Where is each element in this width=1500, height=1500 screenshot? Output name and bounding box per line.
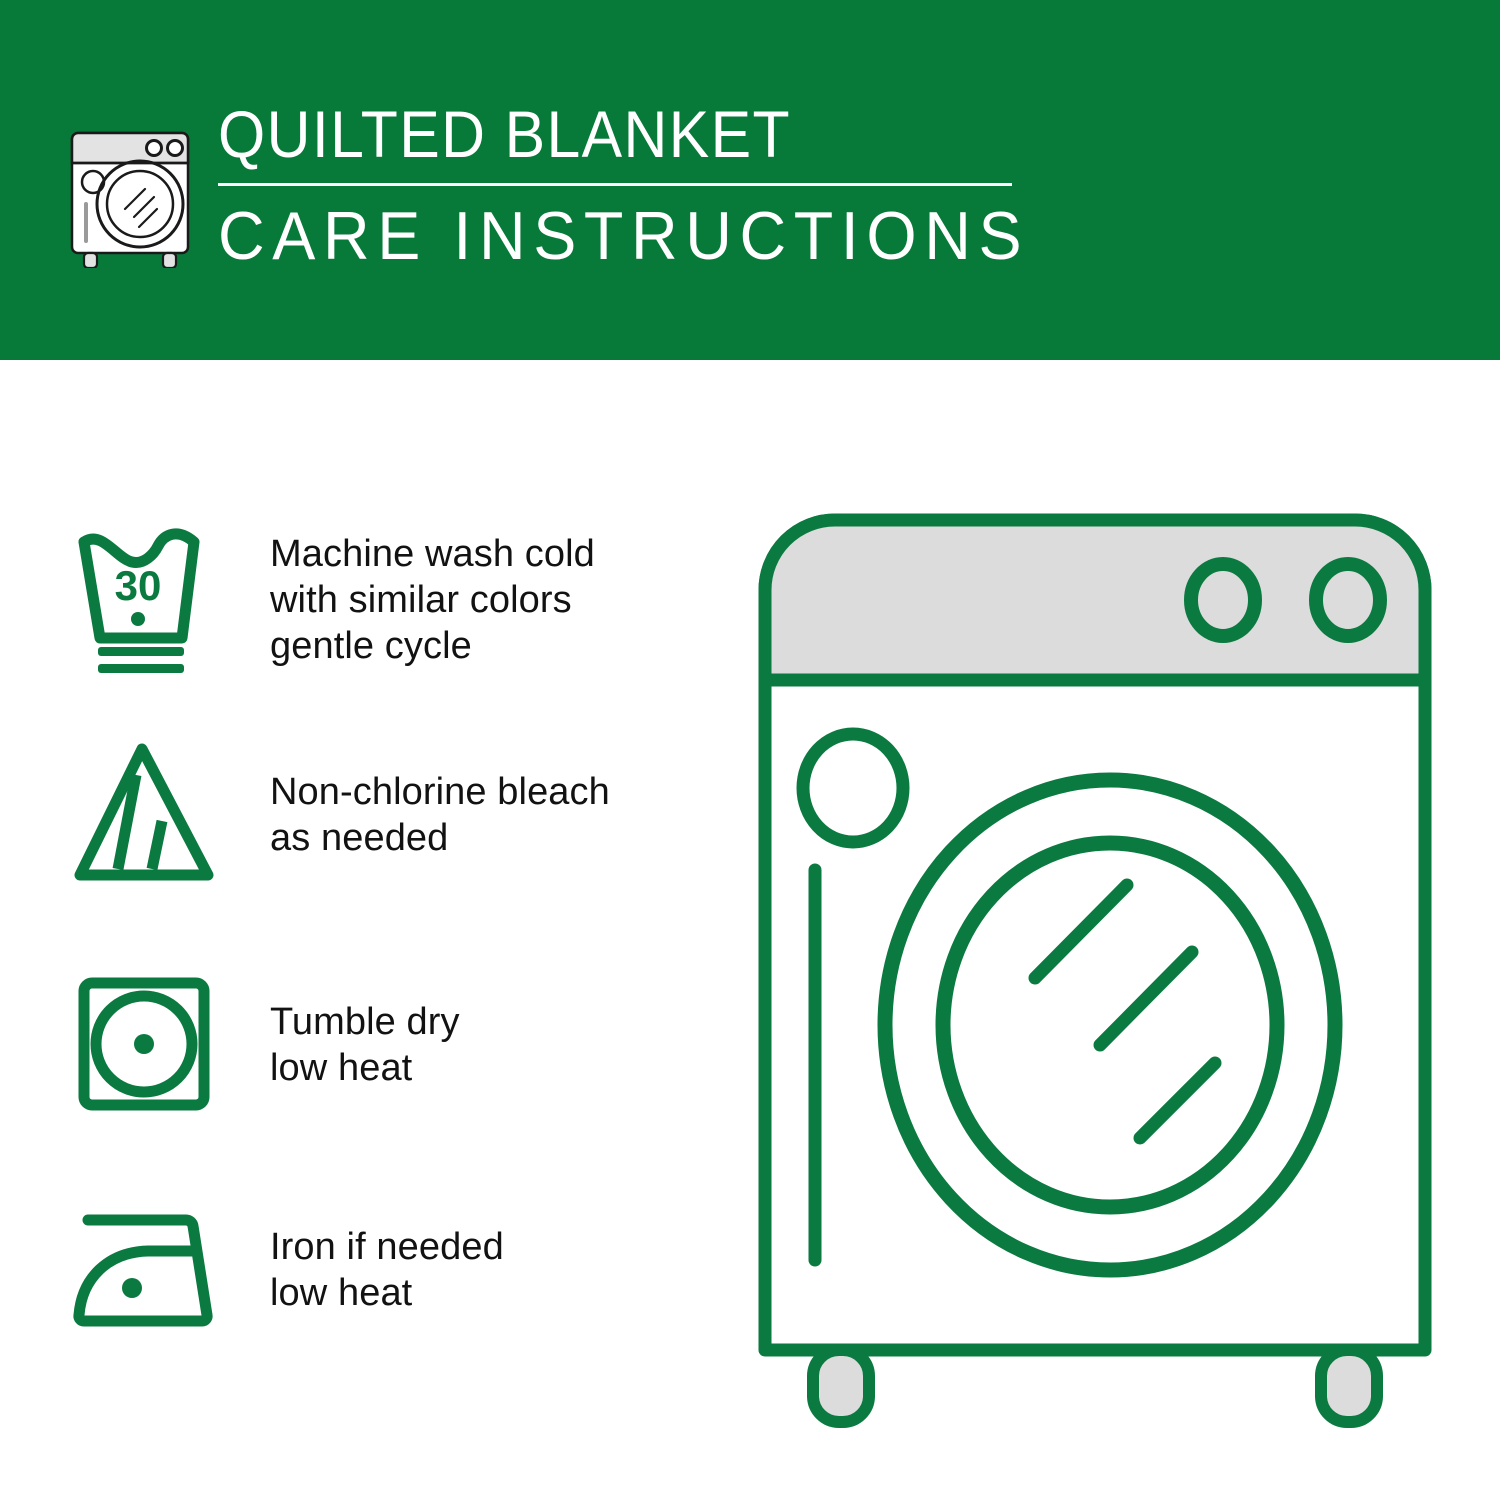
washing-machine-illustration: [745, 500, 1445, 1430]
bleach-triangle-striped-icon: [70, 735, 235, 895]
leg-left: [813, 1350, 869, 1422]
title-divider: [218, 183, 1012, 186]
knob-left-icon: [1191, 564, 1255, 636]
care-row-tumble-dry: Tumble dry low heat: [70, 965, 710, 1125]
leg-right: [1321, 1350, 1377, 1422]
header-band: QUILTED BLANKET CARE INSTRUCTIONS: [0, 0, 1500, 360]
care-row-iron: Iron if needed low heat: [70, 1190, 710, 1350]
header-text-block: QUILTED BLANKET CARE INSTRUCTIONS: [218, 98, 1118, 274]
care-text-iron: Iron if needed low heat: [270, 1224, 504, 1316]
care-row-machine-wash: 30 Machine wash cold with similar colors…: [70, 520, 710, 680]
washing-machine-icon: [62, 103, 198, 268]
page-title: QUILTED BLANKET: [218, 98, 1046, 170]
tumble-dry-low-icon: [70, 965, 235, 1125]
care-row-bleach: Non-chlorine bleach as needed: [70, 735, 710, 895]
iron-low-heat-icon: [70, 1190, 235, 1350]
knob-right-icon: [1316, 564, 1380, 636]
wash-tub-30-icon: 30: [70, 520, 235, 680]
care-text-machine-wash: Machine wash cold with similar colors ge…: [270, 531, 595, 669]
page-subtitle: CARE INSTRUCTIONS: [218, 198, 1073, 274]
care-text-tumble-dry: Tumble dry low heat: [270, 999, 460, 1091]
care-text-bleach: Non-chlorine bleach as needed: [270, 769, 610, 861]
care-instructions-infographic: QUILTED BLANKET CARE INSTRUCTIONS 30 Mac…: [0, 0, 1500, 1500]
wash-temperature-label: 30: [115, 562, 162, 609]
